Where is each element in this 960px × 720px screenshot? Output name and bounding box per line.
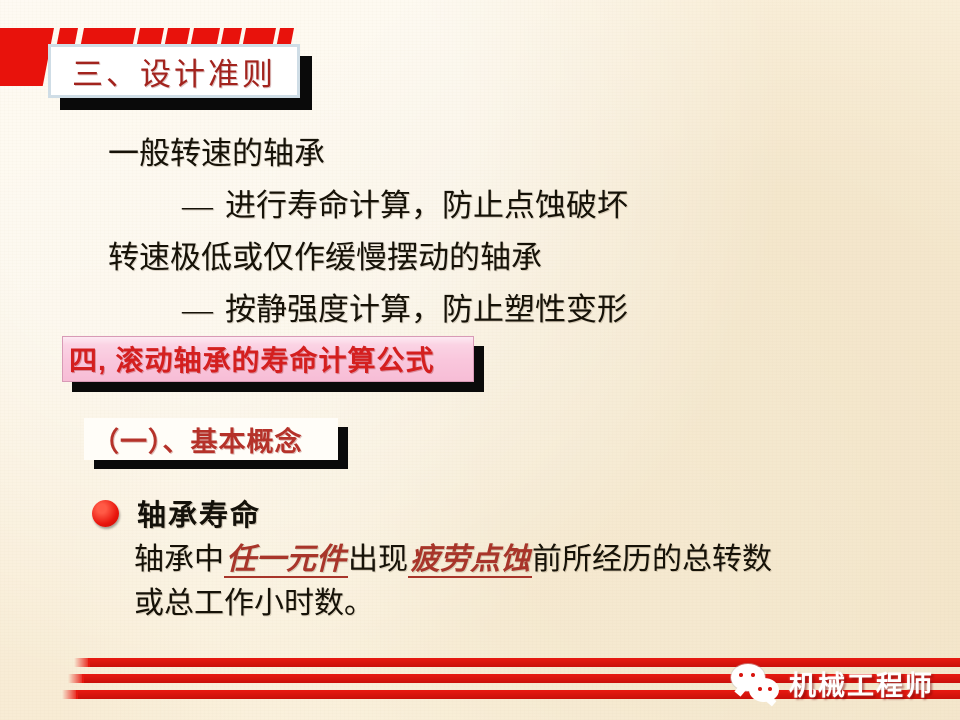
red-bar-6: [191, 28, 220, 44]
definition-paragraph: 轴承中任一元件出现疲劳点蚀前所经历的总转数 或总工作小时数。: [134, 538, 924, 626]
definition-part-1: 轴承中: [134, 543, 224, 576]
section-heading-pink-label: 四, 滚动轴承的寿命计算公式: [63, 339, 435, 379]
wechat-eye-4: [758, 687, 762, 691]
wechat-eye-2: [751, 673, 755, 677]
section-heading-pink: 四, 滚动轴承的寿命计算公式: [62, 336, 474, 382]
definition-highlight-2: 疲劳点蚀: [408, 543, 532, 578]
body-line-3-text: 转速极低或仅作缓慢摆动的轴承: [108, 240, 542, 275]
definition-line-2: 或总工作小时数。: [134, 582, 924, 626]
red-bar-1: [0, 28, 54, 86]
footer-account-name: 机械工程师: [789, 664, 934, 703]
wechat-eye-1: [739, 673, 743, 677]
red-bar-8: [243, 28, 276, 44]
wechat-eye-3: [768, 687, 772, 691]
page-title: 三、设计准则: [51, 49, 297, 94]
wechat-bubble-small: [749, 678, 779, 702]
definition-line-1: 轴承中任一元件出现疲劳点蚀前所经历的总转数: [134, 538, 924, 582]
body-text-block: 一般转速的轴承 —进行寿命计算，防止点蚀破坏 转速极低或仅作缓慢摆动的轴承 —按…: [108, 128, 908, 336]
footer-branding: 机械工程师: [731, 660, 934, 706]
body-line-2-text: 进行寿命计算，防止点蚀破坏: [225, 188, 628, 223]
body-line-3: 转速极低或仅作缓慢摆动的轴承: [108, 232, 908, 284]
body-line-4: —按静强度计算，防止塑性变形: [108, 284, 908, 336]
slide-canvas: 三、设计准则 一般转速的轴承 —进行寿命计算，防止点蚀破坏 转速极低或仅作缓慢摆…: [0, 0, 960, 720]
section-heading-white: （一）、基本概念: [84, 418, 338, 460]
definition-part-3: 前所经历的总转数: [532, 543, 772, 576]
bullet-item-label: 轴承寿命: [137, 492, 261, 534]
bullet-item: 轴承寿命: [92, 492, 261, 534]
em-dash-icon: —: [182, 292, 215, 327]
em-dash-icon: —: [182, 188, 215, 223]
red-bar-4: [137, 28, 164, 44]
body-line-1: 一般转速的轴承: [108, 128, 908, 180]
red-bar-7: [221, 28, 242, 44]
red-bar-5: [165, 28, 190, 44]
section-heading-white-label: （一）、基本概念: [84, 420, 303, 459]
red-dot-bullet-icon: [92, 500, 119, 527]
body-line-2: —进行寿命计算，防止点蚀破坏: [108, 180, 908, 232]
slide-title-box: 三、设计准则: [48, 44, 300, 98]
body-line-1-text: 一般转速的轴承: [108, 136, 325, 171]
definition-highlight-1: 任一元件: [224, 543, 348, 578]
body-line-4-text: 按静强度计算，防止塑性变形: [225, 292, 628, 327]
red-bar-9: [277, 28, 294, 44]
wechat-icon: [731, 664, 779, 702]
definition-part-2: 出现: [348, 543, 408, 576]
